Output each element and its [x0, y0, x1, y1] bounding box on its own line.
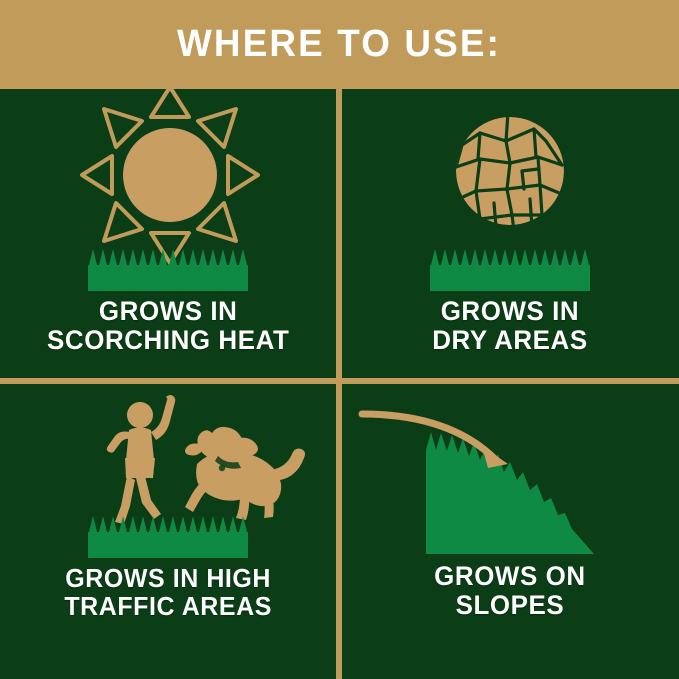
- quadrant-grid: GROWS IN SCORCHING HEAT: [0, 89, 679, 679]
- quadrant-label-slopes: GROWS ON SLOPES: [434, 562, 585, 620]
- icon-area-heat: [0, 89, 336, 297]
- slope-grass-shape: [426, 432, 594, 554]
- grass-strip-icon: [0, 514, 336, 562]
- header-banner: WHERE TO USE:: [0, 0, 679, 89]
- quadrant-dry-areas: GROWS IN DRY AREAS: [342, 89, 678, 378]
- page-title: WHERE TO USE:: [177, 23, 501, 66]
- where-to-use-infographic: WHERE TO USE:: [0, 0, 679, 679]
- grass-strip-icon: [342, 247, 678, 295]
- icon-area-slopes: [342, 384, 678, 562]
- child-and-dog-icon: [0, 392, 336, 522]
- quadrant-scorching-heat: GROWS IN SCORCHING HEAT: [0, 89, 336, 378]
- icon-area-traffic: [0, 384, 336, 564]
- quadrant-label-dry-areas: GROWS IN DRY AREAS: [432, 297, 587, 355]
- icon-area-dry: [342, 89, 678, 297]
- grass-strip-icon: [0, 247, 336, 295]
- sun-icon: [0, 97, 336, 257]
- quadrant-label-high-traffic: GROWS IN HIGH TRAFFIC AREAS: [64, 564, 272, 620]
- quadrant-high-traffic: GROWS IN HIGH TRAFFIC AREAS: [0, 384, 336, 673]
- cracked-earth-icon: [342, 111, 678, 231]
- quadrant-slopes: GROWS ON SLOPES: [342, 384, 678, 673]
- slope-grass-arrow-icon: [342, 392, 678, 562]
- quadrant-label-scorching-heat: GROWS IN SCORCHING HEAT: [47, 297, 289, 355]
